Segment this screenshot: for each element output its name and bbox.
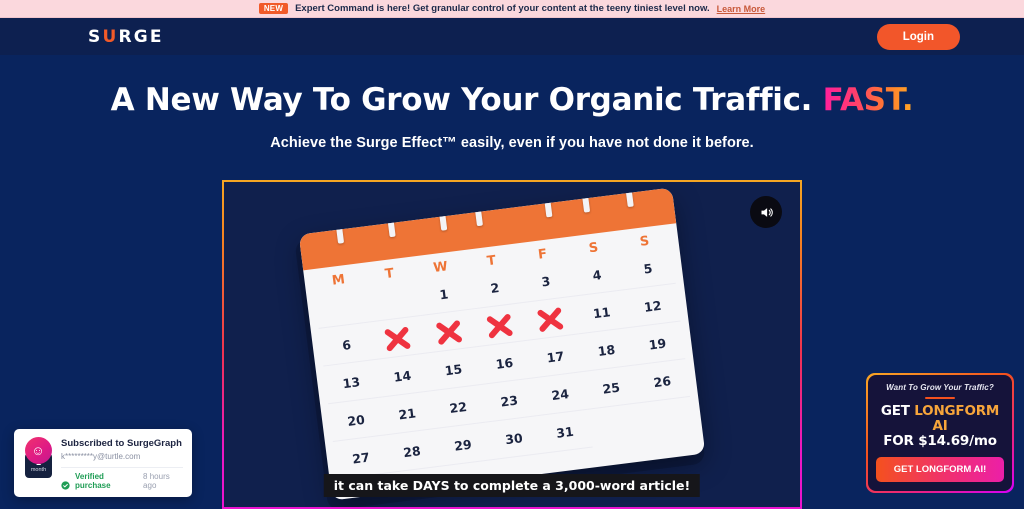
calendar-day-16: 16 (477, 343, 533, 385)
calendar-day-7: 7 (370, 318, 426, 360)
promo-question: Want To Grow Your Traffic? (876, 383, 1004, 392)
calendar-day-30: 30 (486, 418, 542, 460)
get-longform-ai-button[interactable]: GET LONGFORM AI! (876, 457, 1004, 482)
calendar-blank-cell (314, 287, 370, 329)
notification-title: Subscribed to SurgeGraph (61, 438, 183, 449)
logo-part-2: RGE (118, 27, 163, 47)
calendar-day-22: 22 (430, 387, 486, 429)
calendar-day-6: 6 (319, 324, 375, 366)
notification-timestamp: 8 hours ago (143, 472, 183, 490)
calendar-day-24: 24 (533, 374, 589, 416)
notification-body: Subscribed to SurgeGraph k*********y@tur… (61, 437, 183, 490)
promo-headline-line1: GET LONGFORM AI (876, 404, 1004, 434)
calendar-day-25: 25 (584, 368, 640, 410)
video-player[interactable]: MTWTFSS 12345678910111213141516171819202… (224, 182, 800, 507)
calendar-day-17: 17 (528, 336, 584, 378)
volume-icon[interactable] (750, 196, 782, 228)
surge-logo[interactable]: SURGE (88, 27, 164, 47)
calendar-day-15: 15 (426, 349, 482, 391)
calendar-day-20: 20 (328, 400, 384, 442)
calendar-blank-cell (365, 280, 421, 322)
calendar-illustration: MTWTFSS 12345678910111213141516171819202… (299, 187, 706, 500)
hero-section: A New Way To Grow Your Organic Traffic. … (0, 55, 1024, 151)
notification-email: k*********y@turtle.com (61, 452, 183, 461)
calendar-day-18: 18 (579, 330, 635, 372)
promo-card[interactable]: Want To Grow Your Traffic? GET LONGFORM … (866, 373, 1014, 493)
calendar-day-29: 29 (435, 425, 491, 467)
calendar-day-12: 12 (625, 286, 681, 328)
login-button[interactable]: Login (877, 24, 960, 50)
notification-footer: Verified purchase 8 hours ago (61, 467, 183, 490)
hero-subtitle: Achieve the Surge Effect™ easily, even i… (0, 135, 1024, 151)
calendar-day-9: 9 (472, 305, 528, 347)
verified-check-icon (61, 477, 70, 486)
calendar-day-28: 28 (384, 431, 440, 473)
calendar-day-4: 4 (569, 254, 625, 296)
promo-divider (925, 397, 955, 399)
calendar-day-5: 5 (620, 248, 676, 290)
learn-more-link[interactable]: Learn More (717, 4, 766, 14)
site-header: SURGE Login (0, 18, 1024, 55)
calendar-day-8: 8 (421, 312, 477, 354)
calendar-day-10: 10 (523, 299, 579, 341)
calendar-day-21: 21 (379, 393, 435, 435)
subscription-badge: ☺ 1 month (23, 437, 53, 490)
logo-part-1: S (88, 27, 102, 47)
verified-label: Verified purchase (75, 472, 138, 490)
promo-get-label: GET (881, 403, 914, 419)
calendar-day-1: 1 (416, 274, 472, 316)
announcement-bar: NEW Expert Command is here! Get granular… (0, 0, 1024, 18)
video-frame[interactable]: MTWTFSS 12345678910111213141516171819202… (222, 180, 802, 509)
calendar-day-13: 13 (324, 362, 380, 404)
promo-card-inner: Want To Grow Your Traffic? GET LONGFORM … (868, 375, 1012, 491)
calendar-day-11: 11 (574, 292, 630, 334)
page-title: A New Way To Grow Your Organic Traffic. … (0, 82, 1024, 118)
calendar-day-19: 19 (630, 323, 686, 365)
calendar-day-14: 14 (375, 356, 431, 398)
promo-headline-line2: FOR $14.69/mo (876, 434, 1004, 449)
headline-accent: FAST. (823, 82, 914, 118)
badge-unit: month (25, 467, 52, 475)
avatar: ☺ (25, 437, 52, 464)
calendar-day-2: 2 (467, 267, 523, 309)
new-badge: NEW (259, 3, 288, 14)
purchase-notification[interactable]: ☺ 1 month Subscribed to SurgeGraph k****… (14, 429, 192, 497)
announcement-message: Expert Command is here! Get granular con… (295, 3, 710, 14)
logo-accent-letter: U (102, 27, 118, 47)
promo-product-name: LONGFORM AI (914, 403, 999, 434)
calendar-day-26: 26 (635, 361, 691, 403)
calendar-day-31: 31 (537, 412, 593, 454)
video-caption: it can take DAYS to complete a 3,000-wor… (324, 474, 700, 497)
calendar-day-23: 23 (481, 380, 537, 422)
calendar-day-3: 3 (518, 261, 574, 303)
headline-main: A New Way To Grow Your Organic Traffic. (111, 82, 812, 118)
